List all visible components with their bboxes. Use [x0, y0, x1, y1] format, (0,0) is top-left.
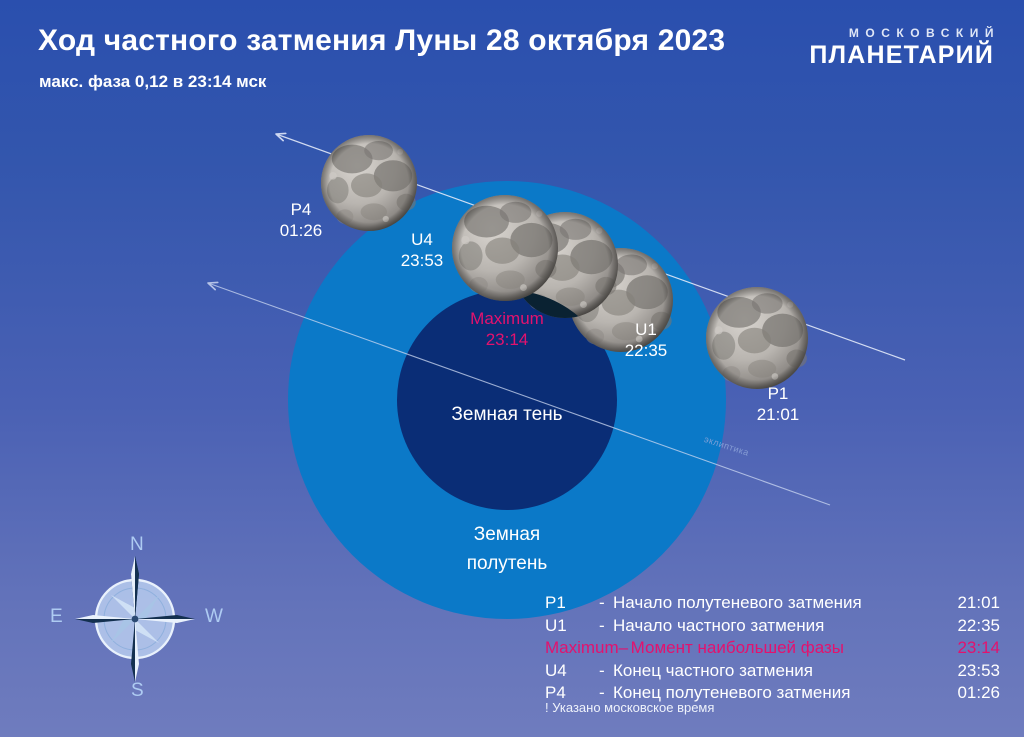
compass-label-north: N: [130, 534, 144, 556]
compass-label-south: S: [131, 680, 144, 702]
legend-time-maximum: 23:14: [938, 637, 1000, 660]
timezone-note: ! Указано московское время: [545, 700, 714, 715]
legend-row-u4: U4 - Конец частного затмения 23:53: [545, 660, 1000, 683]
phase-label-p4: P4 01:26: [265, 200, 337, 241]
legend-row-p1: P1 - Начало полутеневого затмения 21:01: [545, 592, 1000, 615]
legend-code-u1: U1: [545, 615, 599, 638]
legend-time-u4: 23:53: [938, 660, 1000, 683]
legend-time-p1: 21:01: [938, 592, 1000, 615]
logo-top-line: МОСКОВСКИЙ: [809, 26, 1000, 40]
legend-code-u4: U4: [545, 660, 599, 683]
compass-rose: N S E W: [42, 534, 228, 704]
logo-bottom-line: ПЛАНЕТАРИЙ: [809, 42, 994, 68]
legend-row-maximum: Maximum – Момент наибольшей фазы 23:14: [545, 637, 1000, 660]
legend-desc-p1: Начало полутеневого затмения: [613, 592, 938, 615]
legend-desc-u1: Начало частного затмения: [613, 615, 938, 638]
legend-time-u1: 22:35: [938, 615, 1000, 638]
page-title: Ход частного затмения Луны 28 октября 20…: [38, 24, 725, 58]
phase-label-maximum: Maximum 23:14: [451, 309, 563, 350]
eclipse-timeline-legend: P1 - Начало полутеневого затмения 21:01 …: [545, 592, 1000, 705]
legend-code-maximum: Maximum: [545, 637, 619, 660]
moon-u4: [452, 195, 558, 301]
legend-dash-p1: -: [599, 592, 613, 615]
legend-row-u1: U1 - Начало частного затмения 22:35: [545, 615, 1000, 638]
legend-desc-maximum: Момент наибольшей фазы: [631, 637, 938, 660]
compass-label-east: E: [50, 606, 63, 628]
compass-rose-icon: [75, 556, 195, 682]
page-subtitle: макс. фаза 0,12 в 23:14 мск: [39, 72, 266, 92]
phase-label-u1: U1 22:35: [610, 320, 682, 361]
planetarium-logo: МОСКОВСКИЙ ПЛАНЕТАРИЙ: [809, 26, 994, 68]
eclipse-diagram-page: Ход частного затмения Луны 28 октября 20…: [0, 0, 1024, 737]
legend-desc-u4: Конец частного затмения: [613, 660, 938, 683]
legend-time-p4: 01:26: [938, 682, 1000, 705]
compass-label-west: W: [205, 606, 223, 628]
moon-p1: [706, 287, 808, 389]
phase-label-p1: P1 21:01: [742, 384, 814, 425]
penumbra-label-line2: полутень: [442, 550, 572, 579]
penumbra-label-line1: Земная: [442, 521, 572, 550]
legend-dash-maximum: –: [619, 637, 631, 660]
umbra-label: Земная тень: [440, 401, 574, 430]
legend-dash-u1: -: [599, 615, 613, 638]
phase-label-u4: U4 23:53: [386, 230, 458, 271]
legend-code-p1: P1: [545, 592, 599, 615]
legend-dash-u4: -: [599, 660, 613, 683]
penumbra-label: Земная полутень: [442, 521, 572, 578]
